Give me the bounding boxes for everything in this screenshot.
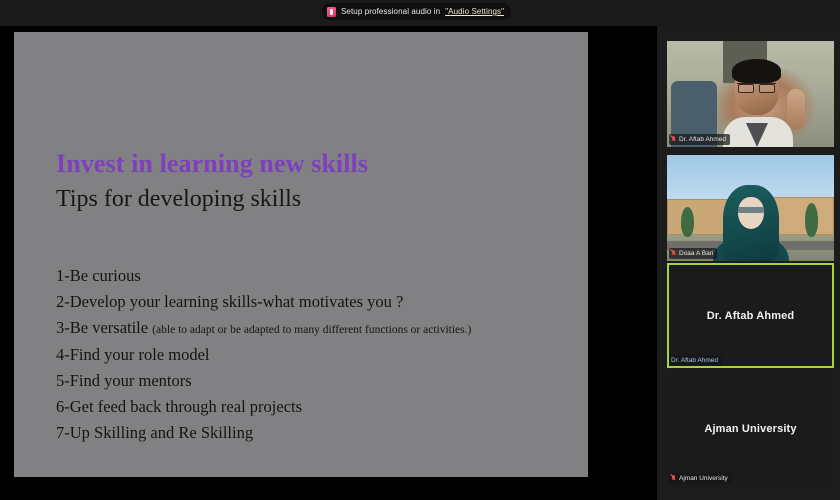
participant-video [667, 155, 834, 261]
list-item: 5-Find your mentors [56, 369, 582, 395]
list-item-note: (able to adapt or be adapted to many dif… [152, 324, 471, 336]
audio-banner-text: Setup professional audio in [341, 7, 440, 16]
list-item: 7-Up Skilling and Re Skilling [56, 421, 582, 447]
list-item: 4-Find your role model [56, 343, 582, 369]
participant-tile-active-speaker[interactable]: Dr. Aftab Ahmed Dr. Aftab Ahmed [667, 263, 834, 368]
participant-face [738, 197, 764, 229]
background-tree [805, 203, 818, 237]
participant-filmstrip[interactable]: Dr. Aftab Ahmed Doaa A Bari [657, 26, 840, 500]
background-tree [681, 207, 694, 237]
participant-name-badge: Dr. Aftab Ahmed [669, 355, 722, 366]
list-item: 6-Get feed back through real projects [56, 395, 582, 421]
background-building-left [667, 199, 729, 235]
zoom-meeting-window: Setup professional audio in "Audio Setti… [0, 0, 840, 500]
list-item: 1-Be curious [56, 264, 582, 290]
slide-title: Invest in learning new skills [56, 149, 368, 179]
participant-name: Doaa A Bari [679, 250, 713, 257]
mic-muted-icon [671, 475, 676, 483]
participant-tile[interactable]: Ajman University Ajman University [667, 372, 834, 486]
participant-video [667, 41, 834, 147]
list-item: 2-Develop your learning skills-what moti… [56, 290, 582, 316]
audio-app-icon [327, 7, 336, 17]
mic-muted-icon [671, 250, 676, 258]
participant-name: Dr. Aftab Ahmed [679, 136, 726, 143]
participant-name: Dr. Aftab Ahmed [671, 357, 718, 364]
slide-bullet-list: 1-Be curious 2-Develop your learning ski… [56, 264, 582, 447]
list-item: 3-Be versatile (able to adapt or be adap… [56, 316, 582, 342]
audio-setup-banner[interactable]: Setup professional audio in "Audio Setti… [322, 3, 511, 20]
participant-tile[interactable]: Doaa A Bari [667, 155, 834, 261]
mic-muted-icon [671, 136, 676, 144]
participant-display-name: Dr. Aftab Ahmed [667, 263, 834, 368]
audio-settings-link[interactable]: "Audio Settings" [445, 7, 504, 16]
sunglasses-icon [738, 207, 764, 213]
participant-display-name: Ajman University [667, 372, 834, 486]
participant-name-badge: Dr. Aftab Ahmed [669, 134, 730, 145]
shared-screen-stage[interactable]: Invest in learning new skills Tips for d… [0, 26, 657, 500]
slide-content: Invest in learning new skills Tips for d… [46, 32, 582, 477]
participant-name-badge: Doaa A Bari [669, 248, 717, 259]
raised-hand [787, 89, 805, 129]
glasses-icon [737, 83, 776, 92]
slide-subtitle: Tips for developing skills [56, 186, 301, 213]
top-notification-bar: Setup professional audio in "Audio Setti… [0, 0, 840, 26]
participant-name-badge: Ajman University [669, 473, 732, 484]
participant-hair [732, 59, 781, 83]
participant-tile[interactable]: Dr. Aftab Ahmed [667, 41, 834, 147]
participant-name: Ajman University [679, 475, 728, 482]
presentation-slide: Invest in learning new skills Tips for d… [14, 32, 588, 477]
